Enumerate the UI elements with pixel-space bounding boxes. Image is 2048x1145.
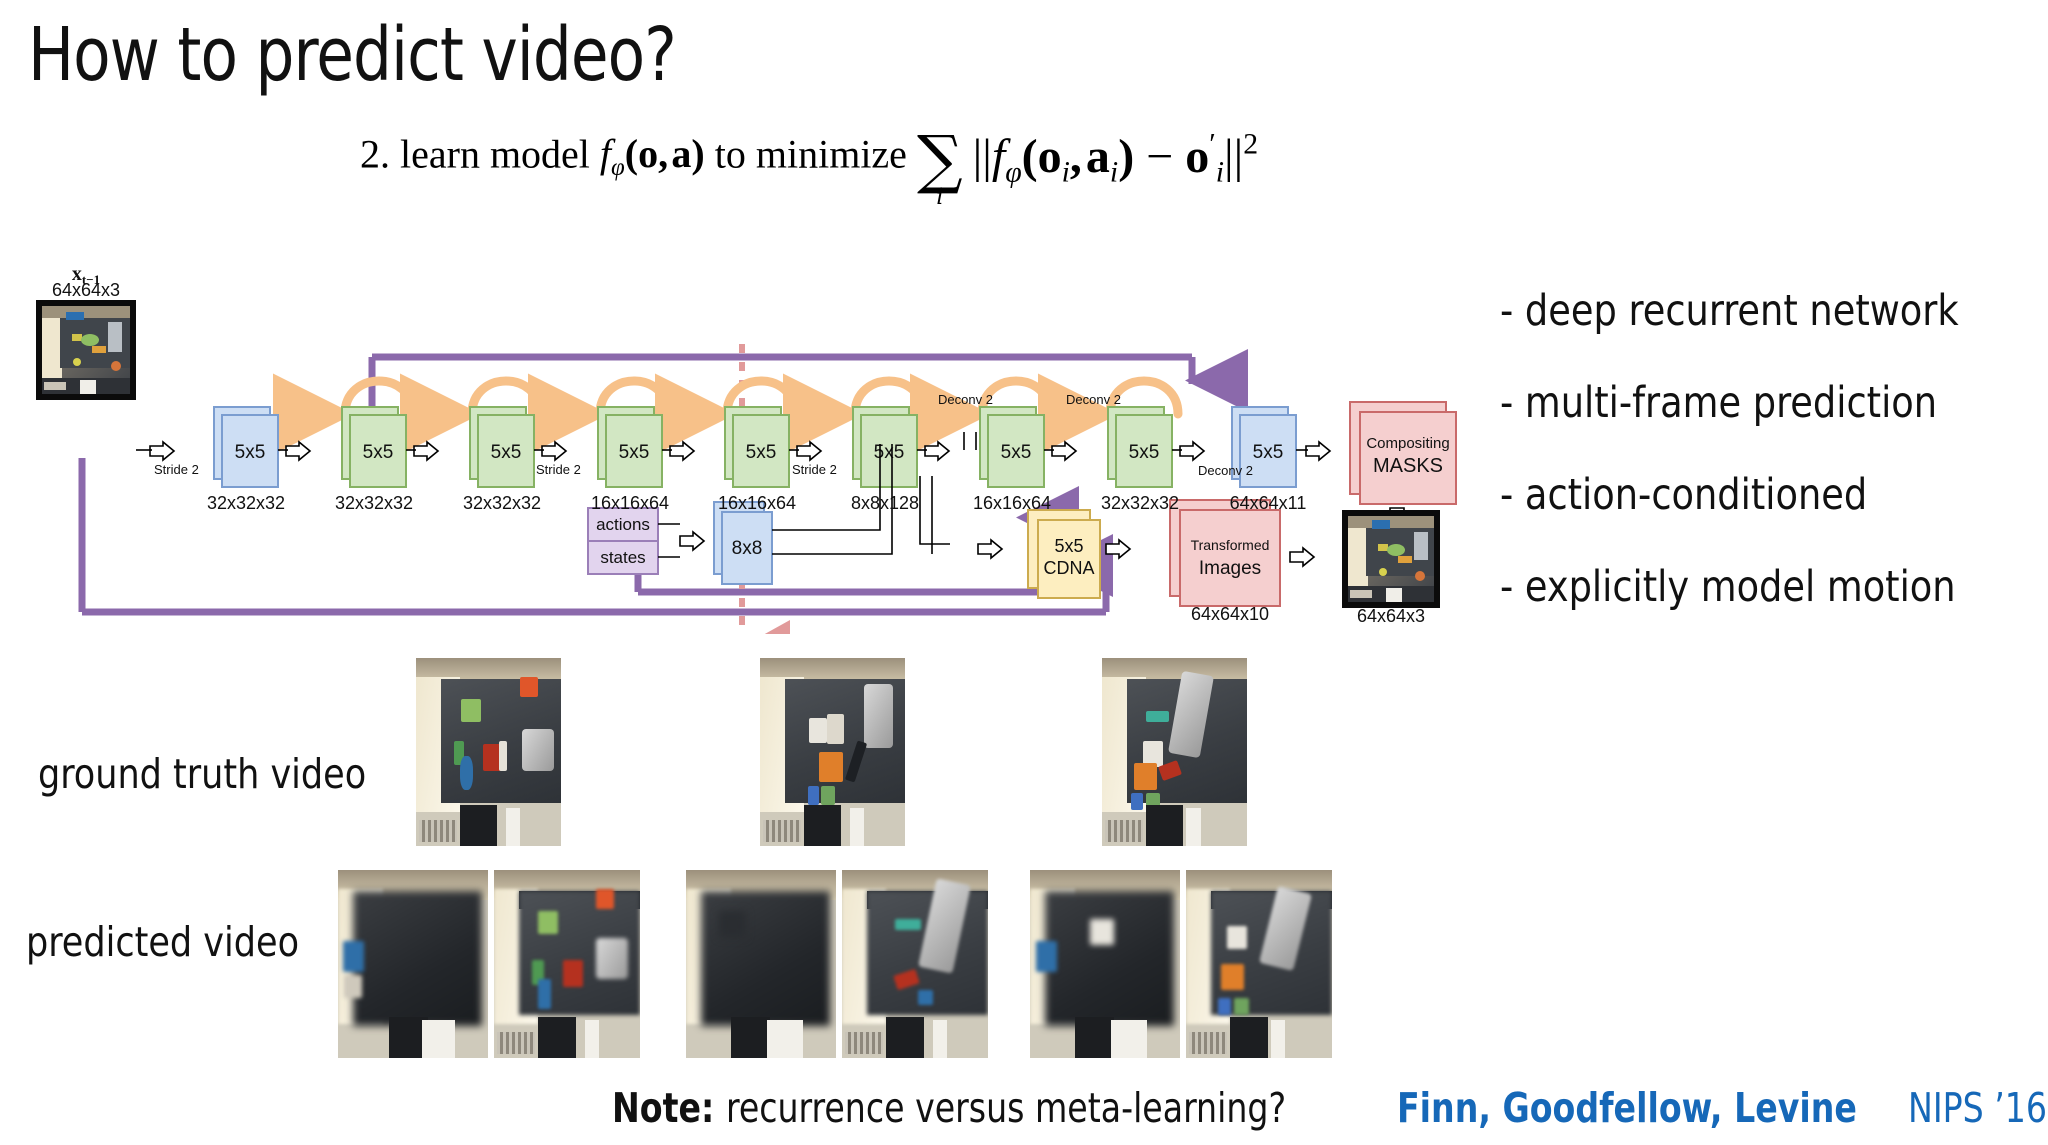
bullet-item-3: - explicitly model motion: [1500, 566, 2013, 609]
note-label: Note:: [612, 1084, 714, 1132]
svg-text:32x32x32: 32x32x32: [335, 493, 413, 513]
svg-text:5x5: 5x5: [1129, 442, 1160, 463]
ground-truth-row-label: ground truth video: [38, 750, 366, 798]
svg-text:Deconv 2: Deconv 2: [938, 392, 993, 407]
conv-block-4: 5x5: [598, 407, 662, 487]
transformed-images-block: Transformed Images: [1170, 500, 1280, 606]
svg-text:MASKS: MASKS: [1373, 455, 1443, 477]
predicted-frame-2a: [686, 870, 836, 1058]
svg-text:64x64x11: 64x64x11: [1230, 493, 1307, 513]
svg-text:5x5: 5x5: [235, 442, 266, 463]
svg-text:Stride 2: Stride 2: [154, 462, 199, 477]
svg-text:8x8x128: 8x8x128: [851, 493, 919, 513]
predicted-frame-1b: [494, 870, 640, 1058]
svg-text:Images: Images: [1199, 558, 1261, 579]
output-frame-image: [1342, 510, 1440, 608]
svg-text:5x5: 5x5: [874, 442, 905, 463]
predicted-frame-3b: [1186, 870, 1332, 1058]
svg-text:64x64x3: 64x64x3: [52, 280, 120, 300]
svg-text:32x32x32: 32x32x32: [207, 493, 285, 513]
compositing-masks-block: Compositing MASKS: [1350, 402, 1456, 504]
ground-truth-frame-3: [1102, 658, 1247, 846]
svg-text:32x32x32: 32x32x32: [463, 493, 541, 513]
svg-text:64x64x10: 64x64x10: [1191, 604, 1269, 624]
formula-function: fφ(o, a): [600, 131, 705, 176]
conv-block-6: 5x5: [853, 407, 917, 487]
svg-text:5x5: 5x5: [1253, 442, 1284, 463]
svg-text:Stride 2: Stride 2: [792, 462, 837, 477]
predicted-frame-2b: [842, 870, 988, 1058]
svg-text:5x5: 5x5: [1054, 536, 1083, 556]
citation-venue: NIPS ’16: [1908, 1084, 2047, 1132]
latent-8x8-block: 8x8: [714, 502, 772, 584]
svg-text:64x64x3: 64x64x3: [1357, 606, 1425, 626]
conv-block-7: 5x5: [980, 407, 1044, 487]
conv-block-5: 5x5: [725, 407, 789, 487]
svg-text:5x5: 5x5: [746, 442, 777, 463]
cdna-kernel-block: 5x5 CDNA: [1028, 510, 1100, 598]
svg-text:actions: actions: [596, 515, 650, 534]
svg-text:5x5: 5x5: [363, 442, 394, 463]
citation-authors: Finn, Goodfellow, Levine: [1397, 1084, 1857, 1132]
bullet-item-2: - action-conditioned: [1500, 474, 2013, 517]
svg-text:Deconv 2: Deconv 2: [1066, 392, 1121, 407]
formula-norm-expression: ||fφ(oi, ai) − o′i||2: [973, 130, 1259, 183]
svg-text:Compositing: Compositing: [1366, 435, 1449, 452]
svg-text:5x5: 5x5: [1001, 442, 1032, 463]
svg-text:5x5: 5x5: [491, 442, 522, 463]
svg-text:Deconv 2: Deconv 2: [1198, 463, 1253, 478]
svg-text:8x8: 8x8: [732, 538, 763, 559]
objective-formula: 2. learn model fφ(o, a) to minimize ∑i |…: [360, 128, 1258, 190]
note-text: recurrence versus meta-learning?: [726, 1084, 1286, 1132]
input-frame-image: [36, 300, 136, 400]
svg-text:Stride 2: Stride 2: [536, 462, 581, 477]
svg-text:16x16x64: 16x16x64: [591, 493, 669, 513]
conv-block-3: 5x5: [470, 407, 534, 487]
bullet-item-0: - deep recurrent network: [1500, 290, 2013, 333]
predicted-frame-3a: [1030, 870, 1180, 1058]
svg-text:CDNA: CDNA: [1043, 558, 1094, 578]
page-title: How to predict video?: [28, 18, 676, 92]
formula-step-number: 2.: [360, 131, 390, 176]
conv-block-1: 5x5: [214, 407, 278, 487]
predicted-frame-1a: [338, 870, 488, 1058]
svg-text:states: states: [600, 548, 645, 567]
summation-index: i: [936, 190, 943, 205]
ground-truth-frame-2: [760, 658, 905, 846]
conv-block-8: 5x5: [1108, 407, 1172, 487]
ground-truth-frame-1: [416, 658, 561, 846]
svg-text:16x16x64: 16x16x64: [718, 493, 796, 513]
svg-text:16x16x64: 16x16x64: [973, 493, 1051, 513]
svg-text:32x32x32: 32x32x32: [1101, 493, 1179, 513]
cdna-architecture-diagram: 5x5 5x5 5x5 5x5 5x5 5x5 5x5 5x5 5x: [20, 262, 1470, 634]
formula-mid: to minimize: [715, 131, 907, 176]
footer-note-and-citation: Note: recurrence versus meta-learning? F…: [612, 1084, 2048, 1132]
summation-symbol: ∑i: [917, 138, 963, 183]
conv-block-2: 5x5: [342, 407, 406, 487]
bullet-item-1: - multi-frame prediction: [1500, 382, 2013, 425]
formula-lead: learn model: [400, 131, 590, 176]
svg-text:5x5: 5x5: [619, 442, 650, 463]
actions-states-block: actions states: [588, 508, 658, 574]
svg-text:Transformed: Transformed: [1191, 537, 1270, 553]
feature-bullet-list: - deep recurrent network - multi-frame p…: [1500, 290, 2040, 658]
predicted-row-label: predicted video: [26, 918, 299, 966]
